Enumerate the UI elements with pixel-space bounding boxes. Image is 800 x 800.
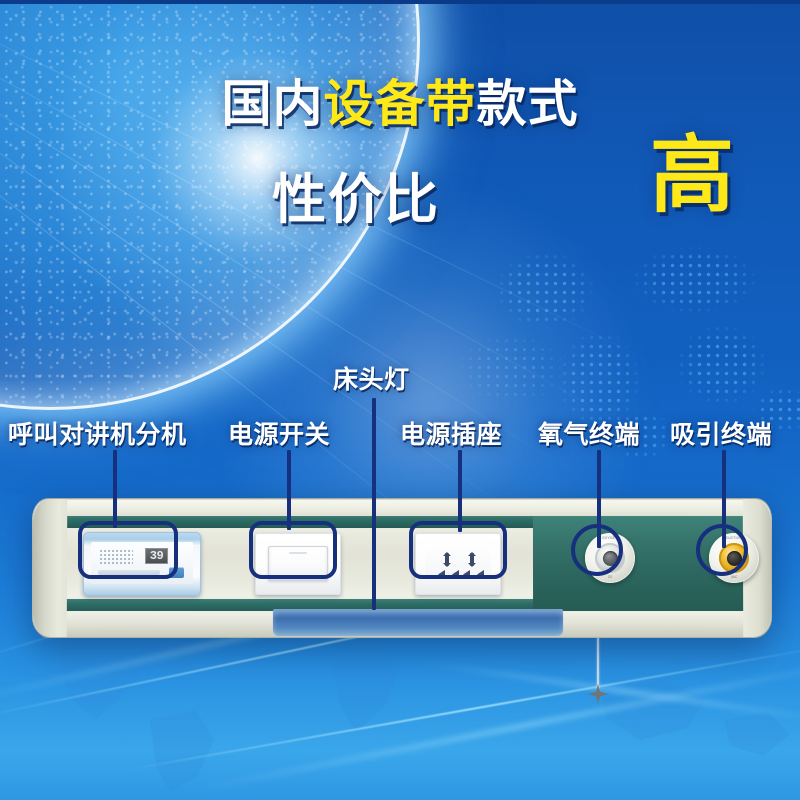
banner-stage: 国内设备带款式 性价比 高 呼叫对讲机分机 电源开关 床头灯 电源插座 氧气终端… <box>0 0 800 800</box>
leader-line-power-switch <box>287 450 291 530</box>
leader-line-intercom <box>113 450 117 528</box>
callout-label-oxygen-outlet: 氧气终端 <box>538 415 640 451</box>
callout-label-suction-outlet: 吸引终端 <box>670 415 772 451</box>
callout-label-power-socket: 电源插座 <box>400 415 502 451</box>
leader-line-oxygen-outlet <box>597 450 601 548</box>
leader-line-bed-lamp <box>372 398 376 610</box>
leader-line-power-socket <box>458 450 462 532</box>
leader-line-suction-outlet <box>722 450 726 548</box>
callout-label-bed-lamp: 床头灯 <box>333 360 410 396</box>
callout-label-intercom: 呼叫对讲机分机 <box>8 415 187 451</box>
callout-label-power-switch: 电源开关 <box>228 415 330 451</box>
callout-layer: 呼叫对讲机分机 电源开关 床头灯 电源插座 氧气终端 吸引终端 <box>0 0 800 800</box>
top-edge-strip <box>0 0 800 4</box>
